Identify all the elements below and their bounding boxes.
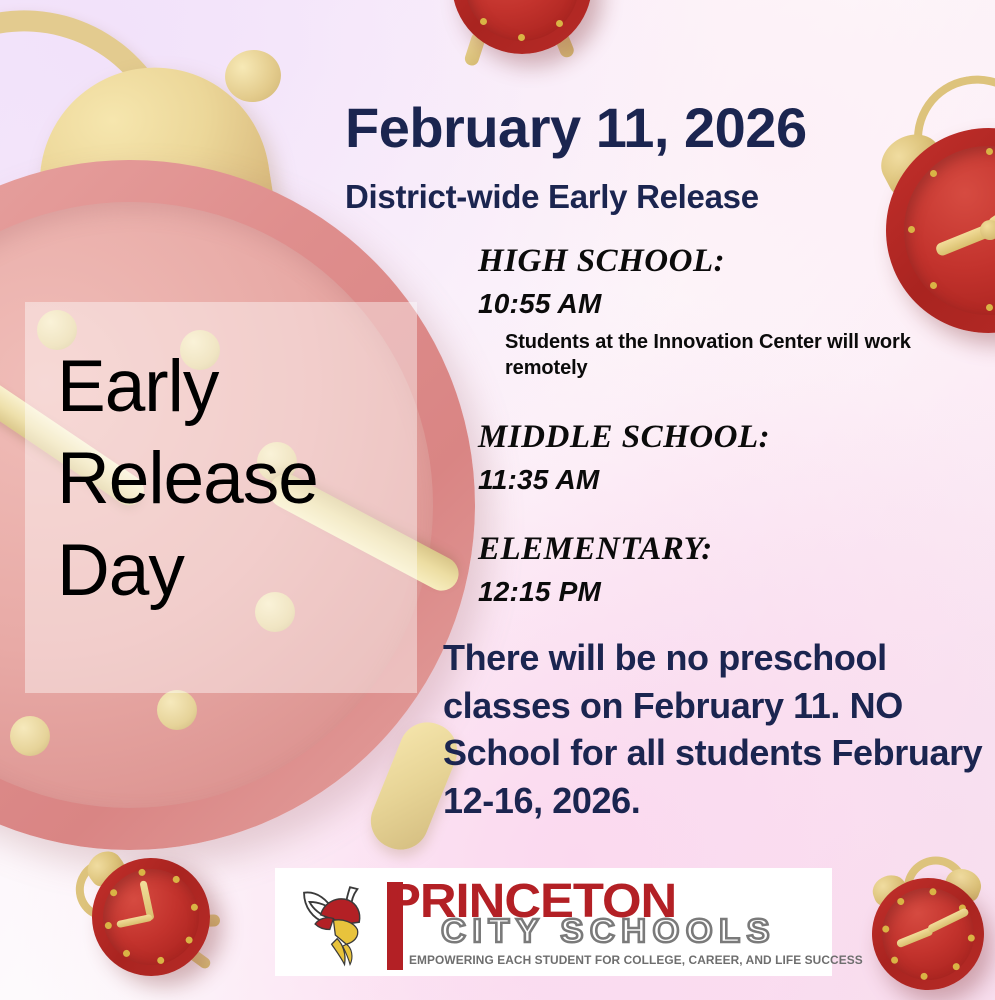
district-wordmark: PRINCETON CITY SCHOOLS EMPOWERING EACH S… — [387, 876, 817, 968]
logo-secondary-text: CITY SCHOOLS — [441, 914, 776, 947]
middle-school-label: MIDDLE SCHOOL: — [478, 419, 770, 456]
high-school-time: 10:55 AM — [478, 288, 602, 320]
elementary-time: 12:15 PM — [478, 576, 601, 608]
early-release-day-flyer: Early Release Day February 11, 2026 Dist… — [0, 0, 995, 1000]
closing-notice: There will be no preschool classes on Fe… — [443, 634, 988, 824]
logo-tagline: EMPOWERING EACH STUDENT FOR COLLEGE, CAR… — [409, 954, 863, 966]
elementary-label: ELEMENTARY: — [478, 531, 713, 568]
district-logo: PRINCETON CITY SCHOOLS EMPOWERING EACH S… — [275, 868, 832, 976]
page-subtitle: District-wide Early Release — [345, 180, 965, 213]
middle-school-time: 11:35 AM — [478, 464, 599, 496]
viking-head-icon — [293, 878, 385, 970]
page-title: February 11, 2026 — [345, 100, 965, 156]
high-school-label: HIGH SCHOOL: — [478, 243, 725, 280]
high-school-note: Students at the Innovation Center will w… — [505, 330, 925, 381]
